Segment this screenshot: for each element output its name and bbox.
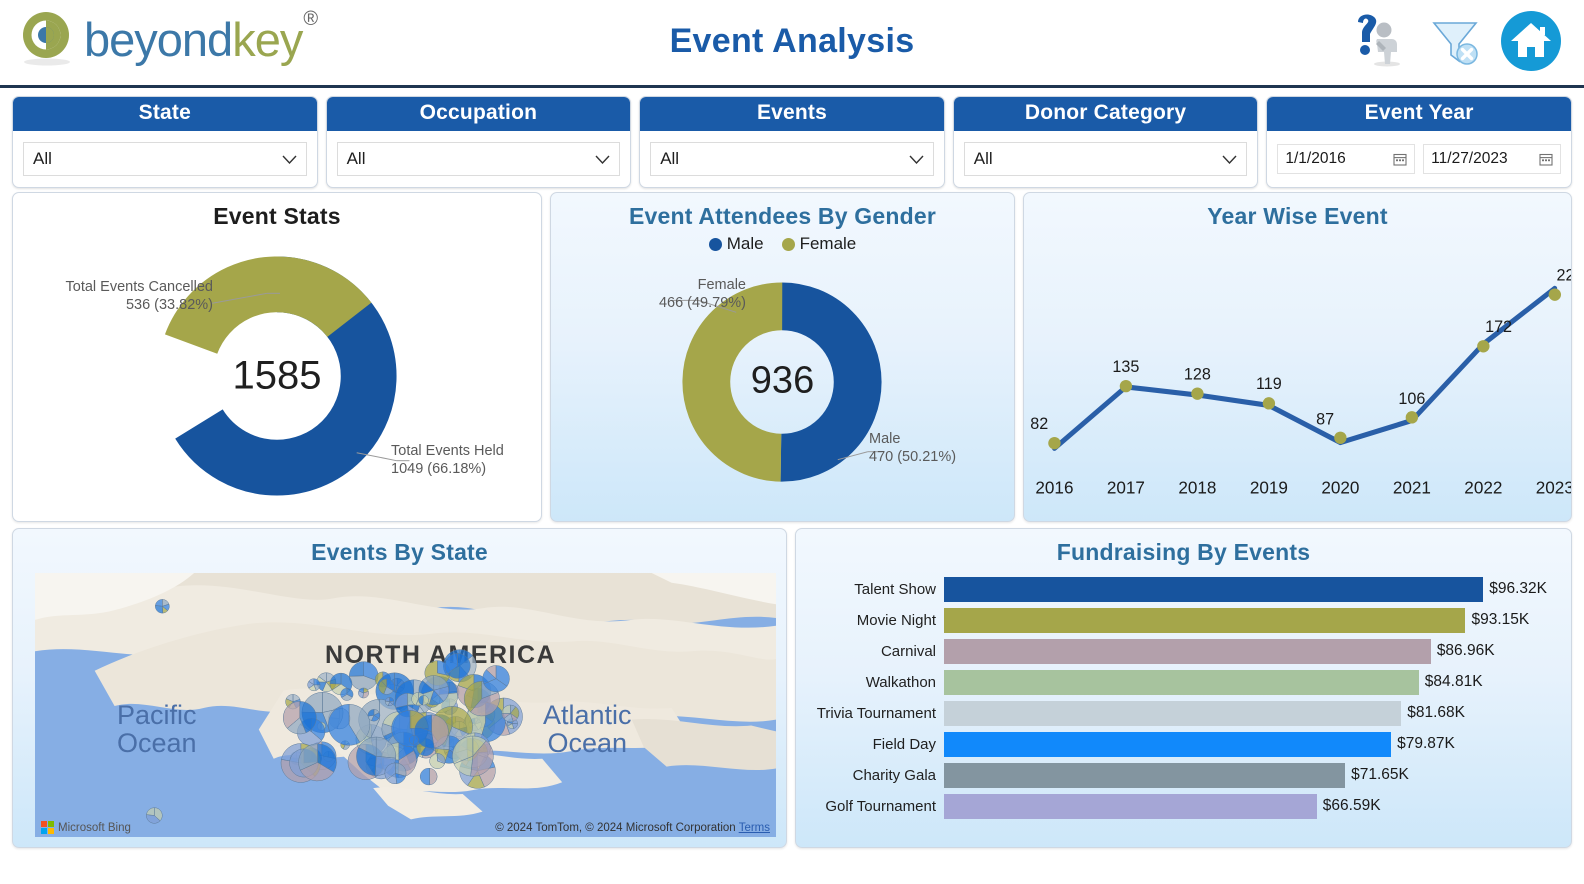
- bar-track: $84.81K: [944, 670, 1571, 695]
- year-wise-line-labels: 8220161352017128201811920198720201062021…: [1024, 230, 1571, 522]
- bar-value-label: $93.15K: [1471, 611, 1529, 629]
- bar-track: $86.96K: [944, 639, 1571, 664]
- slicer-events[interactable]: Events All: [639, 96, 945, 188]
- gender-male-callout: Male 470 (50.21%): [869, 430, 956, 466]
- help-icon[interactable]: [1348, 10, 1410, 72]
- bar-value-label: $84.81K: [1425, 673, 1483, 691]
- page-title: Event Analysis: [0, 22, 1584, 61]
- bar-fill[interactable]: [944, 608, 1465, 633]
- bar-fill[interactable]: [944, 639, 1431, 664]
- bar-track: $81.68K: [944, 701, 1571, 726]
- slicer-event-year-label: Event Year: [1267, 97, 1571, 131]
- gender-title: Event Attendees By Gender: [551, 193, 1014, 230]
- legend-item-male[interactable]: Male: [709, 234, 764, 254]
- svg-text:128: 128: [1184, 365, 1211, 383]
- slicer-occupation[interactable]: Occupation All: [326, 96, 632, 188]
- bar-row[interactable]: Golf Tournament$66.59K: [796, 791, 1571, 822]
- event-year-start-date[interactable]: 1/1/2016: [1277, 144, 1415, 174]
- event-stats-donut[interactable]: 1585 Total Events Cancelled 536 (33.82%)…: [13, 230, 541, 522]
- svg-text:2018: 2018: [1178, 478, 1216, 497]
- bar-category-label: Golf Tournament: [796, 798, 944, 815]
- microsoft-logo-icon: [41, 821, 54, 834]
- bing-map[interactable]: NORTH AMERICA PacificOcean AtlanticOcean…: [35, 573, 776, 837]
- bar-row[interactable]: Trivia Tournament$81.68K: [796, 698, 1571, 729]
- bar-value-label: $81.68K: [1407, 704, 1465, 722]
- chevron-down-icon: [1222, 155, 1237, 164]
- slicer-state[interactable]: State All: [12, 96, 318, 188]
- calendar-icon: [1393, 152, 1407, 166]
- legend-label-female: Female: [800, 234, 857, 254]
- gender-female-callout: Female 466 (49.79%): [571, 276, 746, 312]
- svg-text:2022: 2022: [1464, 478, 1502, 497]
- legend-dot-female-icon: [782, 238, 795, 251]
- svg-text:220: 220: [1557, 266, 1571, 284]
- bar-category-label: Carnival: [796, 643, 944, 660]
- map-terms-link[interactable]: Terms: [739, 822, 770, 834]
- bar-row[interactable]: Talent Show$96.32K: [796, 574, 1571, 605]
- bar-category-label: Movie Night: [796, 612, 944, 629]
- bar-value-label: $86.96K: [1437, 642, 1495, 660]
- map-brand-label: Microsoft Bing: [58, 822, 131, 834]
- bar-track: $71.65K: [944, 763, 1571, 788]
- year-wise-event-card[interactable]: Year Wise Event 822016135201712820181192…: [1023, 192, 1572, 522]
- app-header: beyondkey® Event Analysis: [0, 0, 1584, 88]
- svg-text:119: 119: [1256, 375, 1282, 393]
- female-label: Female: [571, 276, 746, 294]
- map-brand: Microsoft Bing: [41, 821, 131, 834]
- event-stats-card[interactable]: Event Stats 1585 Total Events Cancelled …: [12, 192, 542, 522]
- map-pie-markers[interactable]: [35, 573, 776, 837]
- held-label: Total Events Held: [391, 442, 504, 460]
- bar-value-label: $66.59K: [1323, 797, 1381, 815]
- donor-category-dropdown-value: All: [974, 149, 993, 169]
- gender-legend: Male Female: [551, 234, 1014, 254]
- header-icon-group: [1348, 10, 1562, 72]
- bar-fill[interactable]: [944, 670, 1419, 695]
- bar-row[interactable]: Walkathon$84.81K: [796, 667, 1571, 698]
- state-dropdown[interactable]: All: [23, 142, 307, 176]
- legend-label-male: Male: [727, 234, 764, 254]
- calendar-icon: [1539, 152, 1553, 166]
- slicer-donor-category-label: Donor Category: [954, 97, 1258, 131]
- year-wise-line-chart[interactable]: 8220161352017128201811920198720201062021…: [1024, 230, 1571, 522]
- home-icon[interactable]: [1500, 10, 1562, 72]
- svg-text:172: 172: [1485, 318, 1512, 336]
- events-by-state-card[interactable]: Events By State NORTH AMERICA PacificOce…: [12, 528, 787, 848]
- svg-text:135: 135: [1112, 358, 1139, 376]
- legend-dot-male-icon: [709, 238, 722, 251]
- bar-track: $93.15K: [944, 608, 1571, 633]
- held-value: 1049 (66.18%): [391, 460, 504, 478]
- cancelled-value: 536 (33.82%): [53, 296, 213, 314]
- fundraising-bars[interactable]: Talent Show$96.32KMovie Night$93.15KCarn…: [796, 566, 1571, 844]
- occupation-dropdown[interactable]: All: [337, 142, 621, 176]
- svg-text:2017: 2017: [1107, 478, 1145, 497]
- clear-filter-icon[interactable]: [1424, 10, 1486, 72]
- events-by-state-title: Events By State: [13, 529, 786, 566]
- bar-value-label: $96.32K: [1489, 580, 1547, 598]
- slicer-event-year-body: 1/1/2016 11/27/2023: [1267, 131, 1571, 187]
- bar-value-label: $71.65K: [1351, 766, 1409, 784]
- gender-center-total: 936: [551, 360, 1014, 403]
- events-dropdown-value: All: [660, 149, 679, 169]
- bar-row[interactable]: Carnival$86.96K: [796, 636, 1571, 667]
- bar-track: $79.87K: [944, 732, 1571, 757]
- fundraising-title: Fundraising By Events: [796, 529, 1571, 566]
- bar-row[interactable]: Field Day$79.87K: [796, 729, 1571, 760]
- male-label: Male: [869, 430, 956, 448]
- state-dropdown-value: All: [33, 149, 52, 169]
- bar-fill[interactable]: [944, 577, 1483, 602]
- male-value: 470 (50.21%): [869, 448, 956, 466]
- events-dropdown[interactable]: All: [650, 142, 934, 176]
- event-stats-held-callout: Total Events Held 1049 (66.18%): [391, 442, 504, 478]
- cancelled-label: Total Events Cancelled: [53, 278, 213, 296]
- event-stats-center-total: 1585: [13, 354, 541, 399]
- slicer-state-body: All: [13, 131, 317, 187]
- bar-category-label: Field Day: [796, 736, 944, 753]
- svg-text:82: 82: [1030, 415, 1048, 433]
- bar-category-label: Charity Gala: [796, 767, 944, 784]
- slicer-event-year[interactable]: Event Year 1/1/2016 11/27/2023: [1266, 96, 1572, 188]
- map-attribution: © 2024 TomTom, © 2024 Microsoft Corporat…: [495, 822, 770, 834]
- svg-text:2016: 2016: [1035, 478, 1073, 497]
- event-year-end-date[interactable]: 11/27/2023: [1423, 144, 1561, 174]
- slicer-occupation-body: All: [327, 131, 631, 187]
- map-attribution-text: © 2024 TomTom, © 2024 Microsoft Corporat…: [495, 822, 735, 834]
- event-year-end-value: 11/27/2023: [1431, 150, 1507, 168]
- svg-text:87: 87: [1316, 410, 1334, 428]
- bar-category-label: Trivia Tournament: [796, 705, 944, 722]
- female-value: 466 (49.79%): [571, 294, 746, 312]
- event-year-start-value: 1/1/2016: [1285, 150, 1345, 168]
- bar-fill[interactable]: [944, 732, 1391, 757]
- legend-item-female[interactable]: Female: [782, 234, 857, 254]
- svg-text:2020: 2020: [1321, 478, 1359, 497]
- event-stats-cancelled-callout: Total Events Cancelled 536 (33.82%): [53, 278, 213, 314]
- svg-text:2019: 2019: [1250, 478, 1288, 497]
- bar-fill[interactable]: [944, 763, 1345, 788]
- filter-slicer-row: State All Occupation All Events All Dono…: [0, 88, 1584, 192]
- visual-row-bottom: Events By State NORTH AMERICA PacificOce…: [0, 522, 1584, 858]
- svg-text:2021: 2021: [1393, 478, 1431, 497]
- slicer-events-label: Events: [640, 97, 944, 131]
- chevron-down-icon: [595, 155, 610, 164]
- year-wise-event-title: Year Wise Event: [1024, 193, 1571, 230]
- bar-category-label: Walkathon: [796, 674, 944, 691]
- fundraising-card[interactable]: Fundraising By Events Talent Show$96.32K…: [795, 528, 1572, 848]
- bar-fill[interactable]: [944, 701, 1401, 726]
- donor-category-dropdown[interactable]: All: [964, 142, 1248, 176]
- bar-value-label: $79.87K: [1397, 735, 1455, 753]
- bar-row[interactable]: Movie Night$93.15K: [796, 605, 1571, 636]
- bar-row[interactable]: Charity Gala$71.65K: [796, 760, 1571, 791]
- bar-track: $66.59K: [944, 794, 1571, 819]
- chevron-down-icon: [909, 155, 924, 164]
- bar-track: $96.32K: [944, 577, 1571, 602]
- slicer-donor-category-body: All: [954, 131, 1258, 187]
- slicer-donor-category[interactable]: Donor Category All: [953, 96, 1259, 188]
- slicer-events-body: All: [640, 131, 944, 187]
- gender-card[interactable]: Event Attendees By Gender Male Female: [550, 192, 1015, 522]
- gender-donut[interactable]: 936 Female 466 (49.79%) Male 470 (50.21%…: [551, 254, 1014, 514]
- event-stats-title: Event Stats: [13, 193, 541, 230]
- svg-text:2023: 2023: [1536, 478, 1571, 497]
- bar-fill[interactable]: [944, 794, 1317, 819]
- slicer-occupation-label: Occupation: [327, 97, 631, 131]
- visual-row-middle: Event Stats 1585 Total Events Cancelled …: [0, 192, 1584, 522]
- occupation-dropdown-value: All: [347, 149, 366, 169]
- svg-text:106: 106: [1398, 390, 1425, 408]
- chevron-down-icon: [282, 155, 297, 164]
- bar-category-label: Talent Show: [796, 581, 944, 598]
- slicer-state-label: State: [13, 97, 317, 131]
